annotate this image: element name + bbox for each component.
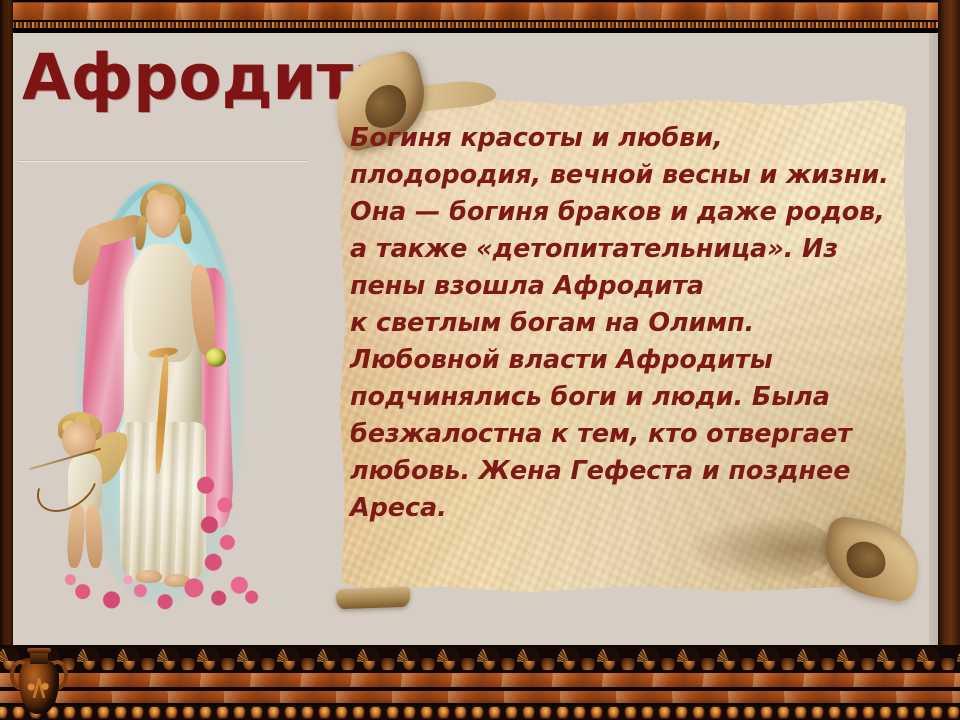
palmette-motif [314,646,344,671]
egg-motif [98,707,109,718]
egg-motif [608,707,619,718]
egg-motif [557,707,568,718]
egg-motif [574,707,585,718]
lotus-motif [701,658,715,670]
egg-motif [727,707,738,718]
egg-motif [744,707,755,718]
egg-motif [166,707,177,718]
egg-motif [302,707,313,718]
palmette-motif [874,646,904,671]
palmette-motif [834,646,864,671]
palmette-motif [794,646,824,671]
title-divider [18,160,308,161]
egg-motif [591,707,602,718]
palmette-motif [194,646,224,671]
top-bead-strip [0,22,960,28]
egg-motif [149,707,160,718]
egg-motif [761,707,772,718]
palmette-motif [234,646,264,671]
egg-motif [81,707,92,718]
egg-motif [540,707,551,718]
egg-motif [319,707,330,718]
egg-motif [523,707,534,718]
bottom-border-frame [0,645,960,720]
greek-amphora [6,646,72,718]
lotus-motif [141,658,155,670]
egg-motif [795,707,806,718]
palmette-motif [674,646,704,671]
parchment-scroll: Богиня красоты и любви, плодородия, вечн… [330,46,930,646]
lotus-motif [861,658,875,670]
egg-motif [846,707,857,718]
egg-motif [200,707,211,718]
bottom-marble-band-upper [0,672,960,689]
lotus-motif [541,658,555,670]
egg-motif [472,707,483,718]
torso [132,244,194,362]
egg-motif [387,707,398,718]
right-border-frame [938,0,960,720]
scroll-body-text: Богиня красоты и любви, плодородия, вечн… [350,120,895,527]
palmette-motif [634,646,664,671]
egg-motif [506,707,517,718]
egg-motif [642,707,653,718]
lotus-motif [661,658,675,670]
lotus-motif [821,658,835,670]
egg-motif [625,707,636,718]
palmette-motif [114,646,144,671]
egg-motif [710,707,721,718]
egg-motif [693,707,704,718]
lotus-motif [221,658,235,670]
palmette-motif [554,646,584,671]
lotus-motif [181,658,195,670]
egg-motif [115,707,126,718]
palmette-motif [354,646,384,671]
rose-petals-ground [58,564,264,610]
egg-motif [370,707,381,718]
palmette-motif [754,646,784,671]
palmette-motif [914,646,944,671]
amphora-figures [25,678,53,698]
lotus-motif [301,658,315,670]
palmette-motif [394,646,424,671]
lotus-motif [101,658,115,670]
egg-motif [676,707,687,718]
egg-motif [336,707,347,718]
egg-motif [132,707,143,718]
palmette-motif [954,646,960,671]
egg-motif [217,707,228,718]
egg-motif [829,707,840,718]
palmette-motif [474,646,504,671]
lotus-motif [381,658,395,670]
egg-motif [863,707,874,718]
egg-motif [880,707,891,718]
egg-motif [489,707,500,718]
eros-leg-left [66,504,86,569]
top-border-frame [0,0,960,33]
egg-motif [438,707,449,718]
egg-motif [778,707,789,718]
golden-apple [206,348,226,367]
palmette-motif [594,646,624,671]
lotus-motif [501,658,515,670]
lotus-motif [901,658,915,670]
egg-motif [285,707,296,718]
lotus-motif [421,658,435,670]
egg-motif [421,707,432,718]
egg-and-dart-band [0,705,960,720]
left-border-frame [0,0,13,720]
aphrodite-illustration [28,172,300,642]
egg-motif [931,707,942,718]
palmette-motif [514,646,544,671]
egg-motif [234,707,245,718]
egg-motif [914,707,925,718]
palmette-motif [74,646,104,671]
egg-motif [251,707,262,718]
lotus-motif [621,658,635,670]
palmette-motif [154,646,184,671]
palmette-motif [714,646,744,671]
egg-motif [948,707,959,718]
palmette-motif [434,646,464,671]
egg-motif [268,707,279,718]
right-inner-margin [929,33,938,645]
lotus-motif [261,658,275,670]
scroll-curl-bottom-left [336,587,411,610]
lotus-motif [341,658,355,670]
amphora-lip [27,648,51,653]
palmette-motif [274,646,304,671]
bottom-marble-band-lower [0,691,960,705]
egg-motif [183,707,194,718]
egg-motif [455,707,466,718]
egg-motif [897,707,908,718]
egg-motif [404,707,415,718]
egg-motif [353,707,364,718]
top-marble-band [0,3,960,20]
egg-motif [812,707,823,718]
lotus-motif [741,658,755,670]
palmette-anthemion-band [0,645,960,672]
egg-motif [659,707,670,718]
lotus-motif [941,658,955,670]
lotus-motif [781,658,795,670]
lotus-motif [461,658,475,670]
slide-canvas: Афродита [0,0,960,720]
lotus-motif [581,658,595,670]
